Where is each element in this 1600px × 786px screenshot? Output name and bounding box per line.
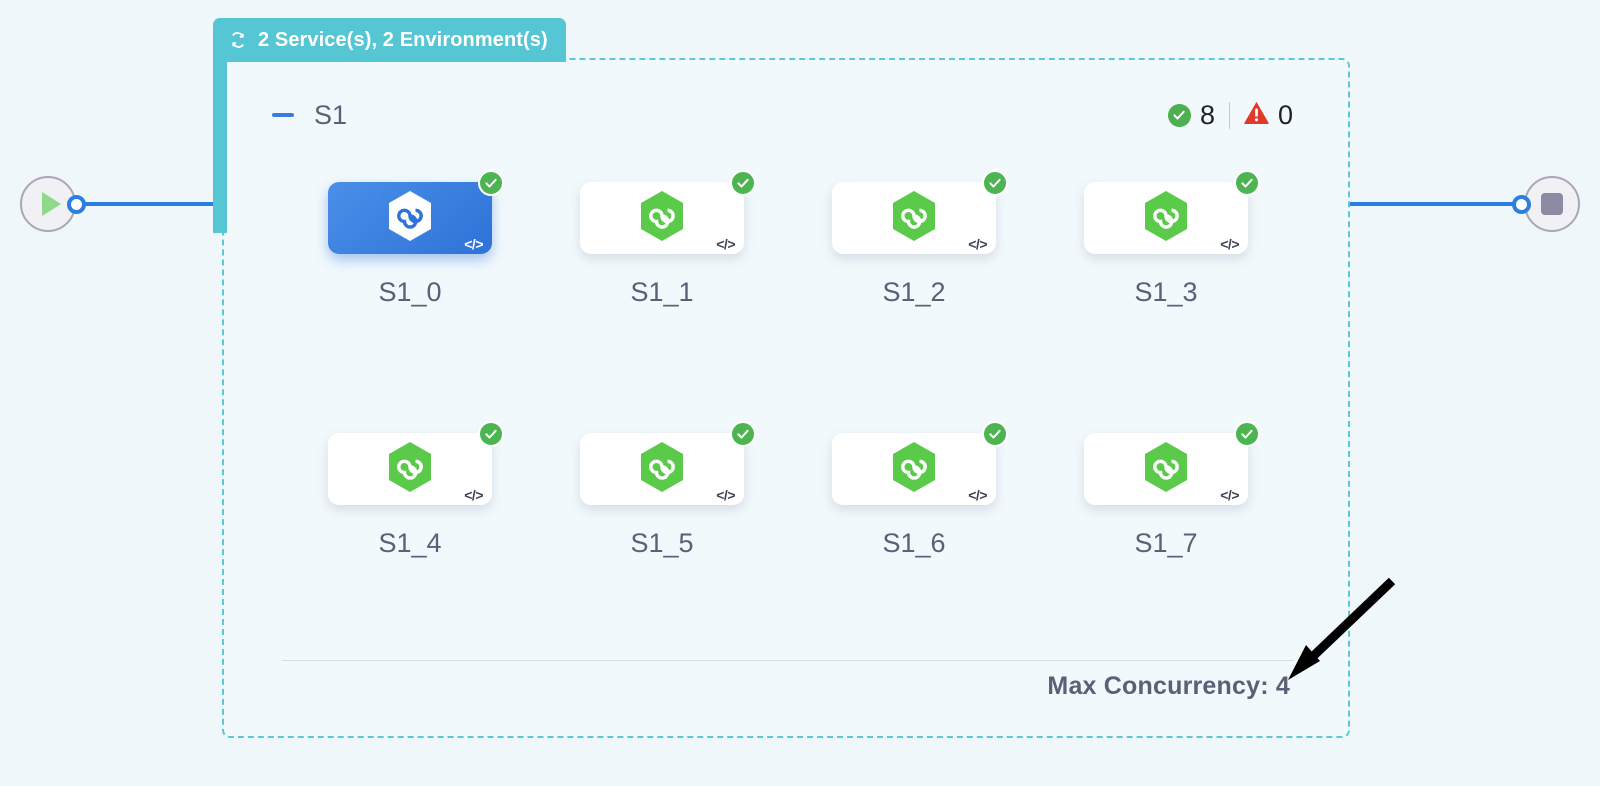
service-hexagon-icon <box>1138 188 1194 249</box>
node-cell: </>S1_1 <box>536 182 788 308</box>
stop-icon <box>1541 193 1563 215</box>
service-hexagon-icon <box>382 439 438 500</box>
warning-triangle-icon <box>1244 101 1269 129</box>
status-counters: 8 0 <box>1168 100 1293 131</box>
code-glyph-icon[interactable]: </> <box>464 236 483 252</box>
node-label: S1_0 <box>378 277 441 308</box>
check-circle-icon <box>730 421 756 447</box>
group-header: S1 8 <box>224 90 1348 140</box>
node-row: </>S1_4</>S1_5</>S1_6</>S1_7 <box>284 433 1294 559</box>
service-hexagon-icon <box>382 188 438 249</box>
check-circle-icon <box>1234 421 1260 447</box>
service-node-card[interactable]: </> <box>1084 433 1248 505</box>
error-counter: 0 <box>1244 100 1293 131</box>
max-concurrency-label: Max Concurrency: 4 <box>1047 672 1290 701</box>
service-node-card[interactable]: </> <box>832 433 996 505</box>
node-row: </>S1_0</>S1_1</>S1_2</>S1_3 <box>284 182 1294 308</box>
node-cell: </>S1_7 <box>1040 433 1292 559</box>
group-badge-label: 2 Service(s), 2 Environment(s) <box>258 29 548 52</box>
node-label: S1_6 <box>882 528 945 559</box>
code-glyph-icon[interactable]: </> <box>968 487 987 503</box>
service-node-card[interactable]: </> <box>832 182 996 254</box>
service-group-container: S1 8 <box>222 58 1350 738</box>
service-node-card[interactable]: </> <box>1084 182 1248 254</box>
group-title: S1 <box>314 100 347 131</box>
group-badge[interactable]: 2 Service(s), 2 Environment(s) <box>213 18 566 62</box>
end-node[interactable] <box>1524 176 1580 232</box>
check-circle-icon <box>1168 104 1191 127</box>
error-count: 0 <box>1278 100 1293 131</box>
code-glyph-icon[interactable]: </> <box>716 236 735 252</box>
service-hexagon-icon <box>886 439 942 500</box>
workflow-canvas: 2 Service(s), 2 Environment(s) S1 8 <box>0 0 1600 786</box>
minus-icon <box>272 113 294 117</box>
service-hexagon-icon <box>634 439 690 500</box>
node-label: S1_2 <box>882 277 945 308</box>
service-hexagon-icon <box>634 188 690 249</box>
success-count: 8 <box>1200 100 1215 131</box>
node-label: S1_7 <box>1134 528 1197 559</box>
node-label: S1_4 <box>378 528 441 559</box>
node-label: S1_5 <box>630 528 693 559</box>
group-badge-bar <box>213 58 227 233</box>
check-circle-icon <box>478 170 504 196</box>
service-hexagon-icon <box>1138 439 1194 500</box>
service-node-card[interactable]: </> <box>580 182 744 254</box>
start-node-port[interactable] <box>67 195 86 214</box>
code-glyph-icon[interactable]: </> <box>1220 487 1239 503</box>
check-circle-icon <box>730 170 756 196</box>
loop-arrows-icon <box>227 29 249 51</box>
counter-divider <box>1229 102 1230 129</box>
node-cell: </>S1_6 <box>788 433 1040 559</box>
success-counter: 8 <box>1168 100 1215 131</box>
connection-wire-end <box>1350 202 1520 206</box>
check-circle-icon <box>478 421 504 447</box>
service-hexagon-icon <box>886 188 942 249</box>
node-label: S1_3 <box>1134 277 1197 308</box>
collapse-toggle-button[interactable] <box>272 113 298 117</box>
play-icon <box>42 192 61 216</box>
connection-wire-start <box>76 202 226 206</box>
node-cell: </>S1_3 <box>1040 182 1292 308</box>
group-footer-divider <box>282 660 1294 661</box>
node-cell: </>S1_2 <box>788 182 1040 308</box>
check-circle-icon <box>982 421 1008 447</box>
code-glyph-icon[interactable]: </> <box>968 236 987 252</box>
end-node-port[interactable] <box>1512 195 1531 214</box>
service-node-card[interactable]: </> <box>328 182 492 254</box>
check-circle-icon <box>982 170 1008 196</box>
service-node-card[interactable]: </> <box>580 433 744 505</box>
node-cell: </>S1_4 <box>284 433 536 559</box>
code-glyph-icon[interactable]: </> <box>716 487 735 503</box>
check-circle-icon <box>1234 170 1260 196</box>
code-glyph-icon[interactable]: </> <box>1220 236 1239 252</box>
service-node-card[interactable]: </> <box>328 433 492 505</box>
node-cell: </>S1_0 <box>284 182 536 308</box>
node-label: S1_1 <box>630 277 693 308</box>
node-cell: </>S1_5 <box>536 433 788 559</box>
code-glyph-icon[interactable]: </> <box>464 487 483 503</box>
